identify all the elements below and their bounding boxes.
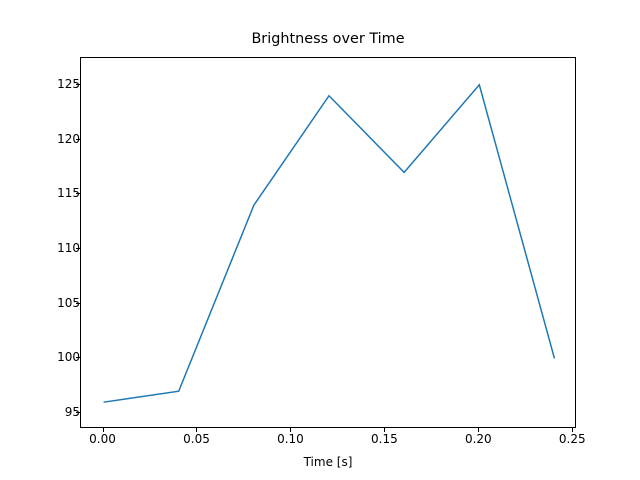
- x-axis-tick-mark: [103, 428, 104, 432]
- figure-canvas: Brightness over Time 9510010511011512012…: [0, 0, 640, 480]
- chart-title: Brightness over Time: [80, 30, 576, 48]
- y-axis-tick-label: 110: [36, 242, 80, 254]
- x-axis-tick-label: 0.00: [68, 433, 138, 445]
- y-axis-tick-label: 115: [36, 187, 80, 199]
- x-axis-tick-label: 0.25: [537, 433, 607, 445]
- x-axis-tick-label: 0.20: [443, 433, 513, 445]
- y-axis-tick-label: 105: [36, 297, 80, 309]
- y-axis-tick-label: 100: [36, 351, 80, 363]
- y-axis-tick-label: 95: [36, 406, 80, 418]
- y-axis-tick: 120: [0, 133, 80, 145]
- y-axis-tick: 110: [0, 242, 80, 254]
- y-axis-tick: 100: [0, 351, 80, 363]
- y-axis-tick: 115: [0, 187, 80, 199]
- x-axis-tick-label: 0.05: [161, 433, 231, 445]
- brightness-line: [104, 85, 555, 402]
- y-axis-tick-mark: [76, 303, 80, 304]
- y-axis-tick: 125: [0, 78, 80, 90]
- data-line-series: [81, 58, 577, 429]
- y-axis-tick: 105: [0, 297, 80, 309]
- x-axis-tick-label: 0.10: [255, 433, 325, 445]
- x-axis-tick-mark: [196, 428, 197, 432]
- x-axis-tick-mark: [384, 428, 385, 432]
- y-axis-tick-label: 125: [36, 78, 80, 90]
- y-axis-tick-mark: [76, 412, 80, 413]
- x-axis-label: Time [s]: [80, 455, 576, 469]
- x-axis-tick-mark: [290, 428, 291, 432]
- y-axis-tick-mark: [76, 357, 80, 358]
- y-axis-tick-mark: [76, 139, 80, 140]
- y-axis-tick-label: 120: [36, 133, 80, 145]
- y-axis-tick-mark: [76, 84, 80, 85]
- plot-area: [80, 57, 576, 428]
- x-axis-tick-mark: [478, 428, 479, 432]
- y-axis-tick-mark: [76, 248, 80, 249]
- x-axis-tick-label: 0.15: [349, 433, 419, 445]
- y-axis-tick-mark: [76, 193, 80, 194]
- x-axis-tick-mark: [572, 428, 573, 432]
- y-axis-tick: 95: [0, 406, 80, 418]
